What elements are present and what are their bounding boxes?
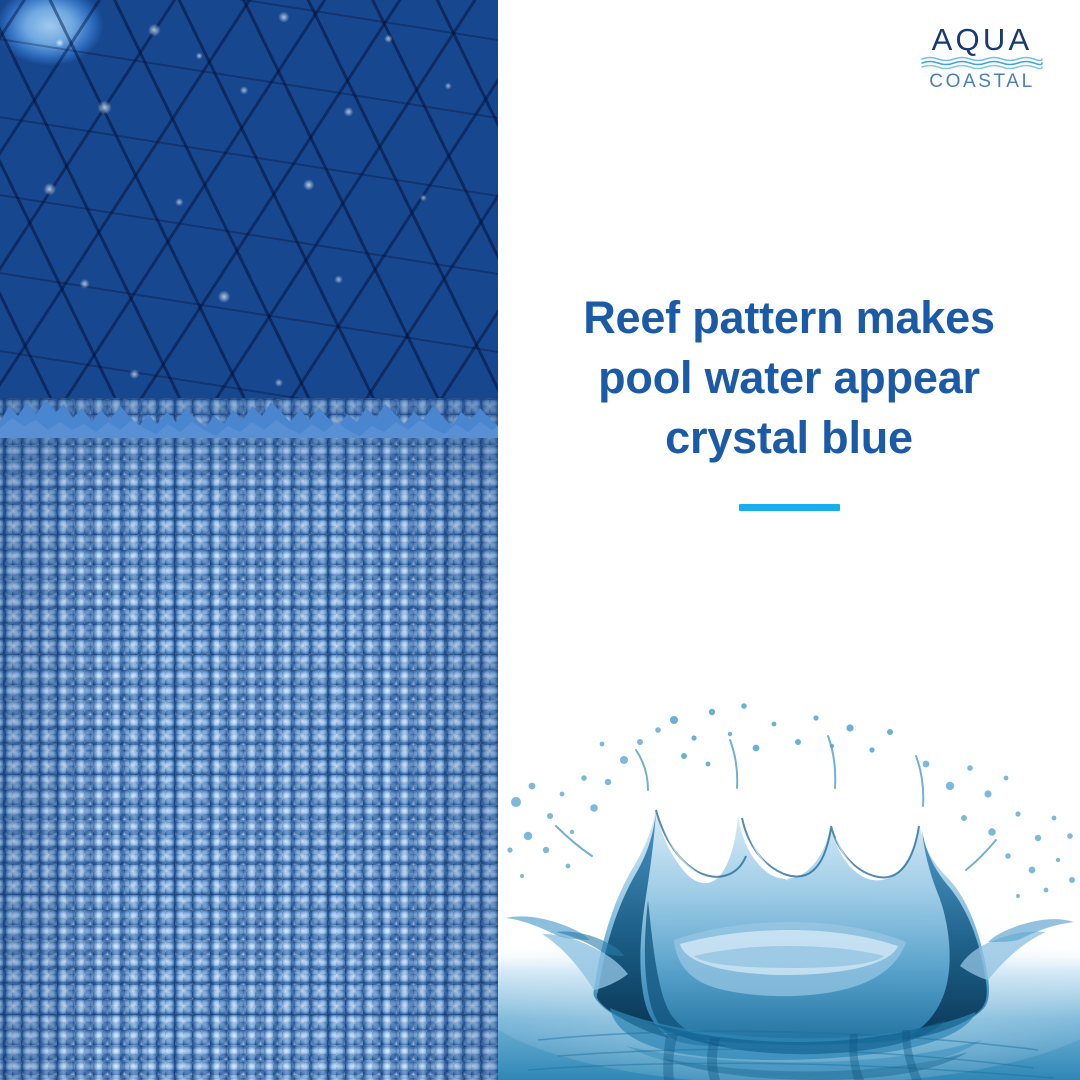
wave-lines-icon [920,56,1044,71]
logo-primary-text: AQUA [920,24,1044,55]
social-media-post-canvas: AQUA COASTAL Reef pattern makes pool wat… [0,0,1080,1080]
water-crown-splash-photo [498,690,1080,1080]
headline-block: Reef pattern makes pool water appear cry… [498,288,1080,511]
gravel-shading-overlay [0,398,498,1080]
logo-secondary-text: COASTAL [920,72,1044,91]
page-title: Reef pattern makes pool water appear cry… [498,288,1080,468]
stone-speckle-overlay [0,0,498,430]
fine-gravel-texture-region [0,398,498,1080]
large-stone-texture-region [0,0,498,430]
accent-divider [739,504,840,511]
reef-pattern-texture-panel [0,0,498,1080]
stone-to-gravel-transition-edge [0,392,498,438]
brand-logo[interactable]: AQUA COASTAL [920,24,1044,91]
